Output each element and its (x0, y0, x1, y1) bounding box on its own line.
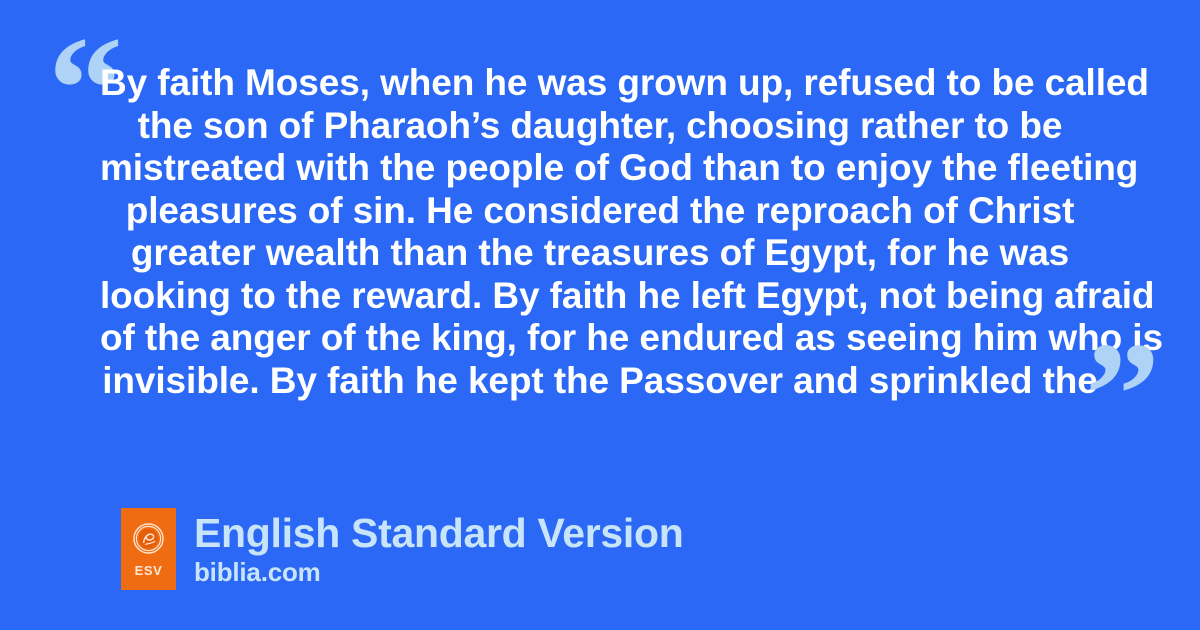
esv-logo: ESV (121, 508, 176, 590)
esv-logo-label: ESV (135, 563, 163, 578)
attribution-footer: ESV English Standard Version biblia.com (121, 508, 683, 590)
esv-seal-icon (133, 523, 164, 554)
quote-line: greater wealth than the treasures of Egy… (100, 232, 1100, 275)
source-site-name: biblia.com (194, 557, 683, 587)
footer-text-group: English Standard Version biblia.com (194, 508, 683, 587)
quote-line: pleasures of sin. He considered the repr… (100, 190, 1100, 233)
quote-line: the son of Pharaoh’s daughter, choosing … (100, 105, 1100, 148)
quote-line: mistreated with the people of God than t… (100, 147, 1100, 190)
closing-quote-icon: ” (1085, 320, 1160, 470)
verse-image-card: “ By faith Moses, when he was grown up, … (0, 0, 1200, 630)
quote-text-block: By faith Moses, when he was grown up, re… (100, 62, 1100, 402)
quote-line: invisible. By faith he kept the Passover… (100, 360, 1100, 403)
bible-version-name: English Standard Version (194, 510, 683, 556)
quote-line: By faith Moses, when he was grown up, re… (100, 62, 1100, 105)
quote-line: looking to the reward. By faith he left … (100, 275, 1100, 318)
quote-line: of the anger of the king, for he endured… (100, 317, 1100, 360)
